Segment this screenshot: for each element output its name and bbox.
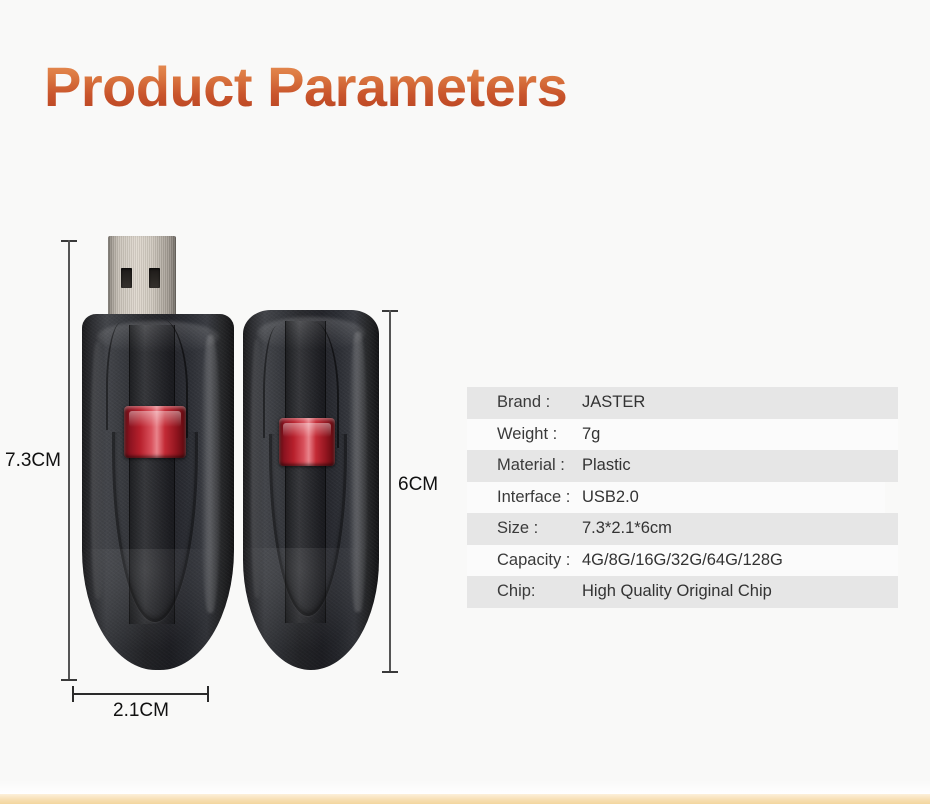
usb-contact-slot	[149, 268, 160, 288]
drive-body	[82, 314, 234, 670]
usb-flash-drive-left	[82, 236, 234, 670]
spec-label: Chip:	[467, 582, 582, 601]
usb-connector-icon	[108, 236, 176, 324]
dimension-label-height: 7.3CM	[5, 450, 61, 472]
table-row: Material : Plastic	[467, 450, 898, 482]
spec-value: JASTER	[582, 393, 645, 412]
table-row: Brand : JASTER	[467, 387, 898, 419]
dimension-label-width: 2.1CM	[113, 700, 169, 722]
dimension-line-height	[68, 240, 70, 681]
table-row: Weight : 7g	[467, 419, 898, 451]
spec-value: USB2.0	[582, 488, 639, 507]
spec-value: 7.3*2.1*6cm	[582, 519, 672, 538]
slider-gloss	[283, 423, 330, 437]
dimension-cap-bottom-right	[382, 671, 398, 673]
spec-value: 7g	[582, 425, 600, 444]
bottom-band-glow	[0, 780, 930, 794]
dimension-label-depth: 6CM	[398, 474, 438, 496]
spec-label: Capacity :	[467, 551, 582, 570]
drive-body	[243, 310, 379, 670]
spec-label: Size :	[467, 519, 582, 538]
page-title: Product Parameters	[44, 58, 567, 117]
spec-label: Material :	[467, 456, 582, 475]
spec-label: Weight :	[467, 425, 582, 444]
dimension-line-width	[72, 693, 209, 695]
drive-shell	[82, 314, 234, 670]
red-slider-switch[interactable]	[279, 418, 335, 466]
dimension-cap-bottom-left	[61, 679, 77, 681]
spec-label: Interface :	[467, 488, 582, 507]
spec-label: Brand :	[467, 393, 582, 412]
drive-shell	[243, 310, 379, 670]
slider-gloss	[129, 411, 181, 427]
dimension-line-depth	[389, 310, 391, 673]
table-row: Interface : USB2.0	[467, 482, 885, 514]
table-row: Capacity : 4G/8G/16G/32G/64G/128G	[467, 545, 898, 577]
table-row: Chip: High Quality Original Chip	[467, 576, 898, 608]
bottom-decorative-band	[0, 794, 930, 804]
spec-value: High Quality Original Chip	[582, 582, 772, 601]
spec-value: 4G/8G/16G/32G/64G/128G	[582, 551, 783, 570]
red-slider-switch[interactable]	[124, 406, 186, 458]
table-row: Size : 7.3*2.1*6cm	[467, 513, 898, 545]
usb-flash-drive-right	[243, 310, 379, 670]
specification-table: Brand : JASTER Weight : 7g Material : Pl…	[467, 387, 898, 608]
usb-contact-slot	[121, 268, 132, 288]
dimension-cap-right-bottom	[207, 686, 209, 702]
spec-value: Plastic	[582, 456, 631, 475]
product-parameters-infographic: Product Parameters 7.3CM 2.1CM 6CM	[0, 0, 930, 804]
